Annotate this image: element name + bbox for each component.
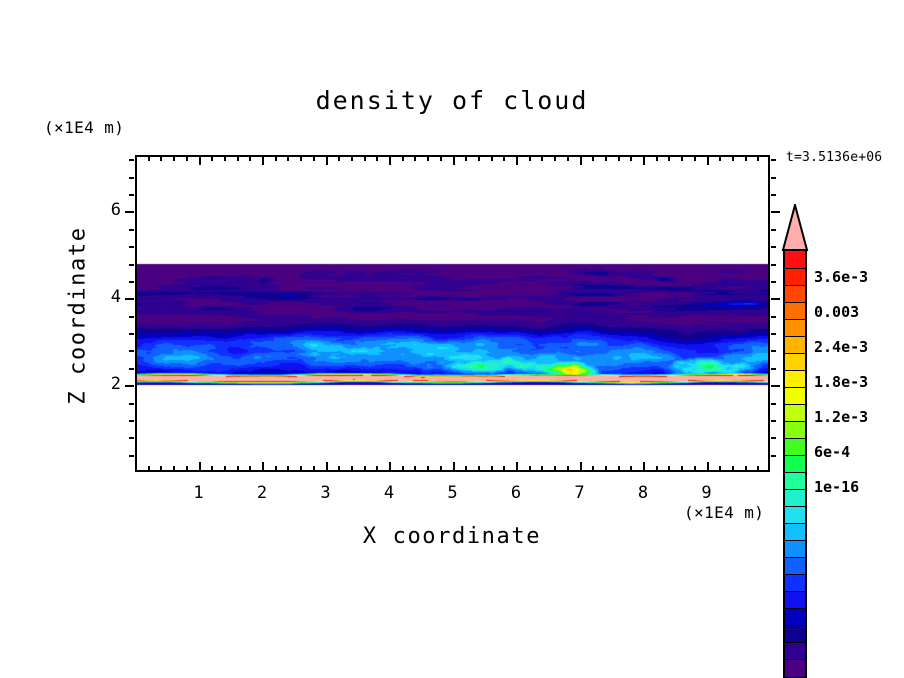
tick-mark [129,333,134,335]
tick-mark [249,156,251,161]
colorbar-swatch [785,455,805,473]
y-tick-label: 4 [97,287,121,307]
tick-mark [771,368,776,370]
y-tick-label: 2 [97,374,121,394]
tick-mark [771,403,776,405]
colorbar-swatch [785,523,805,541]
tick-mark [224,466,226,471]
tick-mark [129,403,134,405]
tick-mark [440,156,442,161]
colorbar-swatch [785,642,805,660]
tick-mark [300,466,302,471]
tick-mark [491,156,493,161]
colorbar-divider [785,455,805,456]
tick-mark [389,156,391,165]
contour-field [137,157,768,470]
tick-mark [129,177,134,179]
tick-mark [771,194,776,196]
tick-mark [719,156,721,161]
tick-mark [287,466,289,471]
tick-mark [129,229,134,231]
tick-mark [211,156,213,161]
tick-mark [173,156,175,161]
colorbar-divider [785,557,805,558]
tick-mark [160,466,162,471]
colorbar-swatch [785,591,805,609]
y-axis-unit-label: (×1E4 m) [44,118,124,137]
tick-mark [707,462,709,471]
tick-mark [376,156,378,161]
colorbar-swatch [785,370,805,388]
tick-mark [326,156,328,165]
tick-mark [541,466,543,471]
colorbar-divider [785,625,805,626]
tick-mark [160,156,162,161]
colorbar-swatch [785,319,805,337]
colorbar-swatches [783,249,807,678]
colorbar-divider [785,472,805,473]
tick-mark [237,466,239,471]
tick-mark [567,156,569,161]
x-tick-label: 4 [374,483,404,503]
tick-mark [681,156,683,161]
tick-mark [326,462,328,471]
tick-mark [580,156,582,165]
tick-mark [771,298,780,300]
colorbar-tick-label: 0.003 [814,303,859,321]
tick-mark [129,350,134,352]
tick-mark [605,466,607,471]
tick-mark [771,350,776,352]
colorbar-divider [785,336,805,337]
tick-mark [224,156,226,161]
tick-mark [351,156,353,161]
tick-mark [453,156,455,165]
tick-mark [592,156,594,161]
colorbar-arrow-icon [781,204,809,252]
y-tick-label: 6 [97,200,121,220]
tick-mark [503,156,505,161]
tick-mark [199,156,201,165]
tick-mark [630,466,632,471]
tick-mark [129,264,134,266]
tick-mark [275,156,277,161]
colorbar-swatch [785,472,805,490]
tick-mark [129,437,134,439]
tick-mark [771,264,776,266]
tick-mark [707,156,709,165]
tick-mark [129,316,134,318]
tick-mark [440,466,442,471]
colorbar-swatch [785,625,805,643]
colorbar-swatch [785,489,805,507]
tick-mark [402,156,404,161]
tick-mark [745,156,747,161]
colorbar-divider [785,642,805,643]
colorbar-swatch [785,404,805,422]
x-tick-label: 7 [565,483,595,503]
tick-mark [262,462,264,471]
tick-mark [567,466,569,471]
tick-mark [771,385,780,387]
tick-mark [554,466,556,471]
colorbar-divider [785,319,805,320]
tick-mark [249,466,251,471]
tick-mark [719,466,721,471]
tick-mark [129,368,134,370]
colorbar-divider [785,370,805,371]
colorbar-swatch [785,574,805,592]
tick-mark [237,156,239,161]
tick-mark [129,281,134,283]
colorbar-divider [785,404,805,405]
tick-mark [757,466,759,471]
tick-mark [771,455,776,457]
tick-mark [262,156,264,165]
tick-mark [516,462,518,471]
tick-mark [529,156,531,161]
x-tick-label: 6 [501,483,531,503]
tick-mark [453,462,455,471]
colorbar-tick-label: 1e-16 [814,478,859,496]
tick-mark [681,466,683,471]
tick-mark [630,156,632,161]
colorbar-divider [785,591,805,592]
tick-mark [771,159,776,161]
x-tick-label: 5 [438,483,468,503]
colorbar-swatch [785,506,805,524]
colorbar-divider [785,489,805,490]
tick-mark [503,466,505,471]
tick-mark [745,466,747,471]
colorbar-swatch [785,285,805,303]
tick-mark [541,156,543,161]
colorbar-tick-label: 6e-4 [814,443,850,461]
colorbar-divider [785,387,805,388]
tick-mark [129,194,134,196]
x-tick-label: 8 [628,483,658,503]
tick-mark [757,156,759,161]
tick-mark [275,466,277,471]
colorbar-swatch [785,302,805,320]
tick-mark [516,156,518,165]
tick-mark [125,211,134,213]
tick-mark [771,437,776,439]
tick-mark [129,159,134,161]
tick-mark [427,466,429,471]
colorbar-divider [785,421,805,422]
x-tick-label: 3 [311,483,341,503]
colorbar-tick-label: 2.4e-3 [814,338,868,356]
plot-area [135,155,770,472]
colorbar-tick-label: 1.8e-3 [814,373,868,391]
colorbar-divider [785,302,805,303]
colorbar-swatch [785,557,805,575]
tick-mark [186,466,188,471]
tick-mark [771,420,776,422]
tick-mark [771,316,776,318]
tick-mark [300,156,302,161]
x-axis-title: X coordinate [0,524,904,549]
colorbar-tick-label: 3.6e-3 [814,268,868,286]
tick-mark [478,156,480,161]
tick-mark [129,420,134,422]
colorbar-swatch [785,353,805,371]
colorbar-divider [785,523,805,524]
tick-mark [580,462,582,471]
tick-mark [338,466,340,471]
colorbar-divider [785,608,805,609]
colorbar-swatch [785,540,805,558]
tick-mark [414,156,416,161]
tick-mark [656,156,658,161]
tick-mark [643,156,645,165]
y-axis-title: Z coordinate [66,216,91,416]
tick-mark [605,156,607,161]
tick-mark [376,466,378,471]
colorbar-divider [785,268,805,269]
tick-mark [732,156,734,161]
colorbar-swatch [785,438,805,456]
tick-mark [643,462,645,471]
tick-mark [465,466,467,471]
colorbar-swatch [785,659,805,677]
tick-mark [491,466,493,471]
tick-mark [313,156,315,161]
tick-mark [771,177,776,179]
tick-mark [771,211,780,213]
x-axis-unit-label: (×1E4 m) [684,503,764,522]
tick-mark [313,466,315,471]
tick-mark [173,466,175,471]
tick-mark [364,156,366,161]
x-tick-label: 1 [184,483,214,503]
colorbar-swatch [785,268,805,286]
colorbar-swatch [785,608,805,626]
colorbar-swatch [785,251,805,269]
tick-mark [618,156,620,161]
tick-mark [694,466,696,471]
colorbar-tick-label: 1.2e-3 [814,408,868,426]
tick-mark [338,156,340,161]
tick-mark [668,466,670,471]
tick-mark [771,246,776,248]
tick-mark [287,156,289,161]
colorbar-divider [785,659,805,660]
tick-mark [125,385,134,387]
x-tick-label: 9 [692,483,722,503]
tick-mark [554,156,556,161]
tick-mark [148,156,150,161]
tick-mark [618,466,620,471]
tick-mark [211,466,213,471]
colorbar-divider [785,438,805,439]
tick-mark [771,333,776,335]
tick-mark [771,229,776,231]
tick-mark [129,455,134,457]
tick-mark [129,246,134,248]
tick-mark [592,466,594,471]
tick-mark [732,466,734,471]
tick-mark [771,281,776,283]
tick-mark [465,156,467,161]
tick-mark [402,466,404,471]
tick-mark [125,298,134,300]
tick-mark [364,466,366,471]
tick-mark [694,156,696,161]
tick-mark [656,466,658,471]
colorbar-divider [785,574,805,575]
tick-mark [351,466,353,471]
tick-mark [427,156,429,161]
tick-mark [478,466,480,471]
x-tick-label: 2 [247,483,277,503]
tick-mark [199,462,201,471]
colorbar-swatch [785,421,805,439]
tick-mark [389,462,391,471]
chart-title: density of cloud [0,86,904,115]
figure-root: density of cloud (×1E4 m) t=3.5136e+06 (… [0,0,904,654]
timestamp-annotation: t=3.5136e+06 [786,150,882,165]
colorbar-swatch [785,387,805,405]
colorbar-divider [785,506,805,507]
tick-mark [186,156,188,161]
colorbar-divider [785,285,805,286]
tick-mark [668,156,670,161]
colorbar-divider [785,540,805,541]
tick-mark [148,466,150,471]
colorbar-divider [785,353,805,354]
tick-mark [529,466,531,471]
tick-mark [414,466,416,471]
colorbar-swatch [785,336,805,354]
